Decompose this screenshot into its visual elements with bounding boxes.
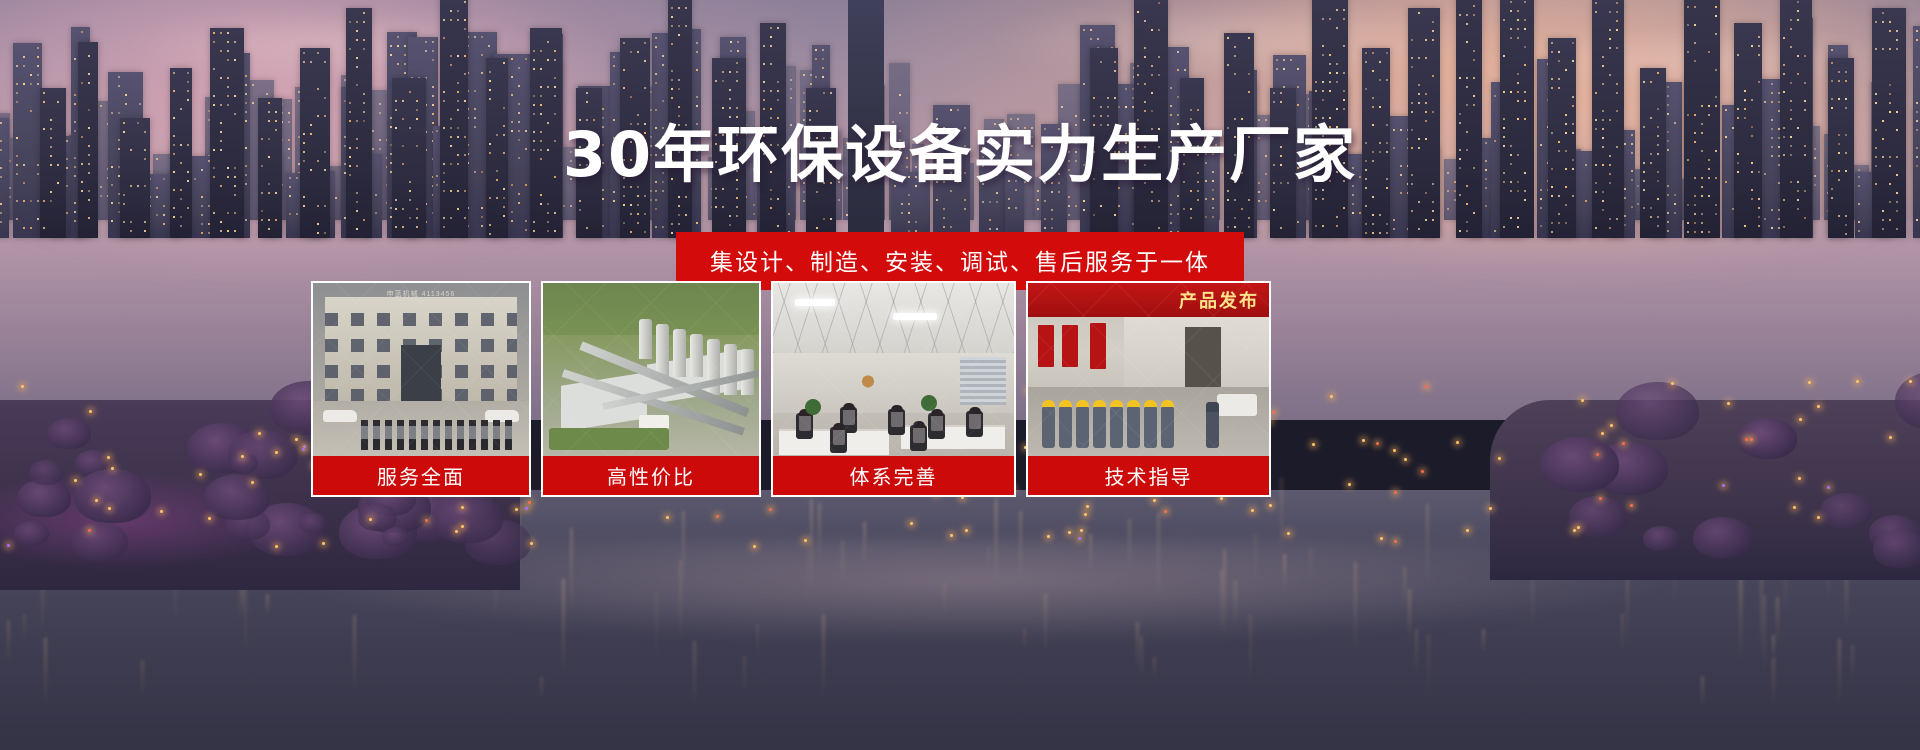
feature-card-1[interactable]: 申蓝机械 4113456 服务全面 [311,281,531,497]
feature-card-4[interactable]: 产品发布 技术指导 [1026,281,1271,497]
workshop-worker [1093,406,1106,448]
office-plant-2 [921,395,937,411]
staff-figure [361,420,368,450]
staff-figure [505,420,512,450]
card-2-label[interactable]: 高性价比 [541,456,761,497]
card-1-label[interactable]: 服务全面 [311,456,531,497]
staff-figure [373,420,380,450]
staff-figure [481,420,488,450]
wall-decal [851,371,885,397]
building-entrance [401,345,441,405]
lawn [549,428,669,450]
workshop-worker [1042,406,1055,448]
hero-banner: 30年环保设备实力生产厂家 集设计、制造、安装、调试、售后服务于一体 申蓝机械 … [0,0,1920,750]
staff-figure [421,420,428,450]
workshop-banner-text: 产品发布 [1179,287,1259,313]
office-worker [913,421,925,443]
storage-silo [724,344,737,395]
feature-card-2[interactable]: 高性价比 [541,281,761,497]
plant-truck [639,415,669,429]
staff-figure [493,420,500,450]
safety-helmet-icon [1110,400,1123,407]
page-title: 30年环保设备实力生产厂家 [0,104,1920,194]
workshop-door [1185,327,1221,389]
staff-figure [433,420,440,450]
safety-helmet-icon [1059,400,1072,407]
staff-figure [409,420,416,450]
safety-helmet-icon [1093,400,1106,407]
wall-slogan-1 [1038,325,1054,367]
workshop-worker [1076,406,1089,448]
safety-helmet-icon [1144,400,1157,407]
workshop-worker [1161,406,1174,448]
staff-figure [457,420,464,450]
card-3-image [771,281,1016,456]
storage-silo [673,329,686,377]
card-1-image: 申蓝机械 4113456 [311,281,531,456]
wall-slogan-2 [1062,325,1078,367]
staff-figure [469,420,476,450]
storage-silo [656,324,669,377]
card-4-label[interactable]: 技术指导 [1026,456,1271,497]
office-worker [891,405,903,427]
wall-slogan-3 [1090,323,1106,369]
feature-card-list: 申蓝机械 4113456 服务全面 [311,281,1561,497]
car-left [323,410,357,422]
safety-helmet-icon [1161,400,1174,407]
workshop-truck [1217,394,1257,416]
office-worker [833,423,845,445]
office-worker [969,407,981,429]
feature-card-3[interactable]: 体系完善 [771,281,1016,497]
office-plant-1 [805,399,821,415]
technical-supervisor [1206,402,1219,448]
workshop-worker [1059,406,1072,448]
ceiling-light-2 [893,313,937,320]
staff-figure [397,420,404,450]
workshop-worker [1110,406,1123,448]
card-4-image: 产品发布 [1026,281,1271,456]
storage-silo [690,334,703,377]
ceiling-light-1 [795,299,835,306]
car-right [485,410,519,422]
safety-helmet-icon [1127,400,1140,407]
office-worker [931,409,943,431]
office-worker [843,403,855,425]
staff-figure [385,420,392,450]
safety-helmet-icon [1042,400,1055,407]
staff-figure [445,420,452,450]
storage-silo [639,319,652,359]
safety-helmet-icon [1076,400,1089,407]
card-2-image [541,281,761,456]
workshop-worker [1127,406,1140,448]
card-3-label[interactable]: 体系完善 [771,456,1016,497]
workshop-worker [1144,406,1157,448]
window-blinds [960,357,1006,405]
